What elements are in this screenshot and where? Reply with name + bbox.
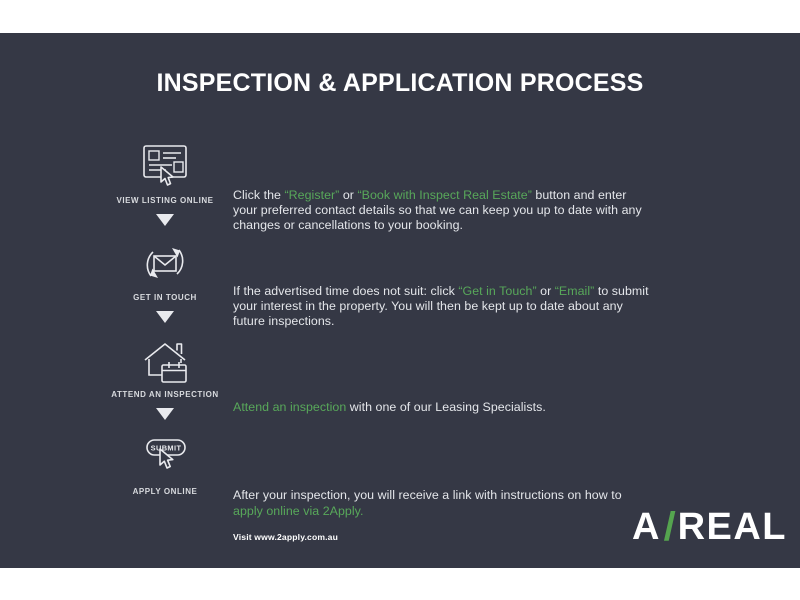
body-text: or	[537, 284, 555, 298]
submit-icon-label: SUBMIT	[151, 443, 182, 452]
step-attend-an-inspection: ATTEND AN INSPECTION	[90, 332, 240, 399]
house-calendar-icon	[90, 332, 240, 388]
down-triangle-icon	[90, 302, 240, 332]
body-text: or	[339, 188, 357, 202]
step-label: APPLY ONLINE	[90, 487, 240, 496]
step-description-1: Click the “Register” or “Book with Inspe…	[233, 188, 653, 234]
listing-window-cursor-icon	[90, 138, 240, 194]
body-text: If the advertised time does not suit: cl…	[233, 284, 458, 298]
step-label: GET IN TOUCH	[90, 293, 240, 302]
step-get-in-touch: GET IN TOUCH	[90, 235, 240, 302]
slide-canvas: INSPECTION & APPLICATION PROCESS VIEW LI…	[0, 33, 800, 568]
steps-column: VIEW LISTING ONLINE GET IN TOUCH	[90, 138, 240, 496]
logo-slash-icon: /	[663, 505, 677, 550]
body-text: After your inspection, you will receive …	[233, 488, 622, 502]
visit-url-note: Visit www.2apply.com.au	[233, 532, 653, 542]
step-description-4: After your inspection, you will receive …	[233, 488, 653, 518]
down-triangle-icon	[90, 399, 240, 429]
descriptions-column: Click the “Register” or “Book with Inspe…	[233, 138, 653, 542]
body-text: Click the	[233, 188, 284, 202]
down-triangle-icon	[90, 205, 240, 235]
step-view-listing-online: VIEW LISTING ONLINE	[90, 138, 240, 205]
accent-text: apply online via 2Apply.	[233, 504, 363, 518]
submit-button-cursor-icon: SUBMIT	[90, 429, 240, 485]
accent-text: Attend an inspection	[233, 400, 346, 414]
brand-logo: A / REAL	[632, 505, 787, 550]
body-text: with one of our Leasing Specialists.	[346, 400, 546, 414]
envelope-refresh-icon	[90, 235, 240, 291]
accent-text: “Email”	[555, 284, 595, 298]
step-apply-online: SUBMIT APPLY ONLINE	[90, 429, 240, 496]
logo-word-real: REAL	[678, 506, 787, 549]
logo-letter-a: A	[632, 506, 661, 549]
step-label: ATTEND AN INSPECTION	[90, 390, 240, 399]
accent-text: “Book with Inspect Real Estate”	[357, 188, 531, 202]
step-label: VIEW LISTING ONLINE	[90, 196, 240, 205]
accent-text: “Register”	[284, 188, 339, 202]
page-title: INSPECTION & APPLICATION PROCESS	[0, 69, 800, 98]
accent-text: “Get in Touch”	[458, 284, 536, 298]
step-description-2: If the advertised time does not suit: cl…	[233, 284, 653, 330]
step-description-3: Attend an inspection with one of our Lea…	[233, 400, 653, 415]
